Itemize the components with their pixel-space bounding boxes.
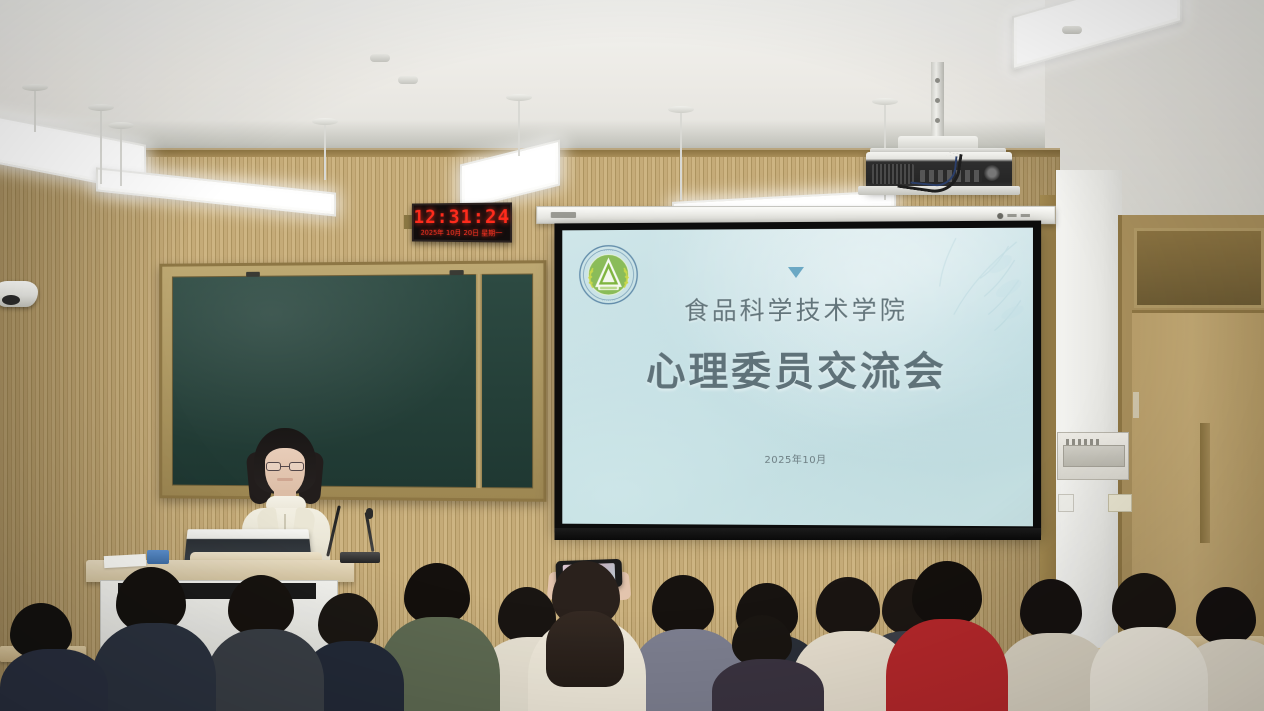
- audience-head: [1196, 587, 1256, 645]
- microphone-base: [340, 552, 380, 563]
- podium-papers: [104, 554, 147, 568]
- audience-head: [1020, 579, 1082, 639]
- ceiling-sprinkler-2: [398, 76, 418, 84]
- blackboard-clip-1: [246, 272, 260, 277]
- clock-wall-bracket: [404, 215, 412, 229]
- digital-wall-clock: 12:31:24 2025年 10月 20日 星期一: [412, 202, 512, 242]
- projection-screen-weight-bar: [554, 528, 1041, 540]
- blackboard: [159, 260, 546, 502]
- light-ceiling-mount-5: [506, 94, 532, 101]
- audience-shoulders: [0, 649, 108, 711]
- clock-date-display: 2025年 10月 20日 星期一: [421, 228, 503, 238]
- door-hinge-upper: [1133, 392, 1139, 418]
- podium-blue-box: [147, 550, 169, 564]
- projector-pole-bolt-1: [935, 78, 940, 83]
- electrical-panel[interactable]: [1057, 432, 1129, 480]
- housing-brand-badge: [551, 212, 576, 218]
- camera-lens-icon: [2, 295, 20, 305]
- door-handle[interactable]: [1200, 423, 1210, 543]
- projector-pole-bolt-2: [935, 98, 940, 103]
- audience-shoulders: [712, 659, 824, 711]
- wall-switch[interactable]: [1058, 494, 1074, 512]
- slide-triangle-marker: [562, 264, 1033, 284]
- presenter-glasses-icon: [266, 462, 304, 471]
- audience-shoulders: [886, 619, 1008, 711]
- projection-screen: · · · · · · · · · · · · 食品科学技术学院 心理委员交流会…: [554, 221, 1041, 536]
- blackboard-slide-rail: [476, 274, 482, 488]
- audience-head: [652, 575, 714, 635]
- electrical-panel-window: [1063, 445, 1125, 467]
- slide-date-text: 2025年10月: [562, 450, 1033, 466]
- ceiling-sprinkler-1: [370, 54, 390, 62]
- warning-label: [1108, 494, 1132, 512]
- audience-shoulders: [206, 629, 324, 711]
- audience-head: [1112, 573, 1176, 635]
- svg-text:· · · · ·: · · · · ·: [604, 249, 613, 253]
- light-ceiling-mount-7: [872, 98, 898, 105]
- light-pendant-rod-5: [518, 96, 520, 156]
- light-ceiling-mount-2: [88, 104, 114, 111]
- audience-head: [816, 577, 880, 637]
- projection-screen-surface: · · · · · · · · · · · · 食品科学技术学院 心理委员交流会…: [562, 228, 1033, 527]
- slide-title-text: 心理委员交流会: [562, 339, 1033, 398]
- audience-shoulders: [1090, 627, 1208, 711]
- audience-long-hair: [546, 611, 624, 687]
- audience-head: [228, 575, 294, 637]
- clock-time-display: 12:31:24: [414, 207, 511, 227]
- light-pendant-rod-4: [324, 120, 326, 180]
- microphone-head-icon: [366, 508, 373, 519]
- light-pendant-rod-6: [680, 108, 682, 200]
- door-transom-window: [1134, 228, 1264, 308]
- slide-institution-text: 食品科学技术学院: [562, 290, 1033, 327]
- ceiling-sprinkler-3: [1062, 26, 1082, 34]
- light-pendant-rod-3: [120, 124, 122, 186]
- light-ceiling-mount-6: [668, 106, 694, 113]
- audience-head: [404, 563, 470, 625]
- light-ceiling-mount-3: [108, 122, 134, 129]
- audience-shoulders: [92, 623, 216, 711]
- light-pendant-rod-1: [34, 86, 36, 132]
- screen-controls[interactable]: [997, 211, 1042, 220]
- light-ceiling-mount-1: [22, 84, 48, 91]
- classroom-scene: · · · · · · · · · · · · 食品科学技术学院 心理委员交流会…: [0, 0, 1264, 711]
- light-pendant-rod-2: [100, 106, 102, 184]
- dome-camera-icon: [0, 281, 38, 307]
- projector-pole-bolt-3: [935, 118, 940, 123]
- blackboard-clip-2: [450, 270, 464, 275]
- projector-lens-icon: [984, 165, 1000, 181]
- light-ceiling-mount-4: [312, 118, 338, 125]
